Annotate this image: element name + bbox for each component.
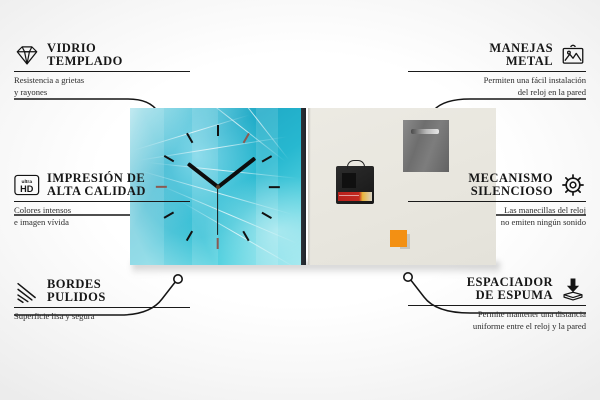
- polished-edges-icon: [14, 278, 40, 304]
- feature-espaciador-espuma: Espaciador de Espuma Permite mantener un…: [408, 276, 586, 332]
- foam-spacer-arrow-icon: [560, 276, 586, 302]
- feature-impresion-alta-calidad: ultra HD Impresión de Alta Calidad Color…: [14, 172, 190, 228]
- feature-rule: [14, 71, 190, 72]
- feature-title-line2: de Espuma: [467, 289, 553, 302]
- svg-text:HD: HD: [20, 184, 34, 194]
- mechanism-hanging-loop: [347, 160, 365, 169]
- feature-title-line2: Alta Calidad: [47, 185, 146, 198]
- mechanism-label: [338, 192, 372, 201]
- feature-bordes-pulidos: Bordes Pulidos Superficie lisa y segura: [14, 278, 190, 323]
- feature-description: Superficie lisa y segura: [14, 311, 190, 322]
- hanger-slot: [411, 129, 439, 134]
- clock-center-pin: [216, 185, 220, 189]
- feature-description: Resistencia a grietas y rayones: [14, 75, 190, 98]
- metal-hanger-plate: [403, 120, 449, 172]
- feature-rule: [408, 71, 586, 72]
- feature-rule: [14, 307, 190, 308]
- back-panel-edge: [308, 108, 311, 265]
- feature-rule: [14, 201, 190, 202]
- feature-rule: [408, 201, 586, 202]
- feature-manejas-metal: Manejas Metal Permiten una fácil instala…: [408, 42, 586, 98]
- infographic-canvas: Vidrio Templado Resistencia a grietas y …: [0, 0, 600, 400]
- feature-title-line2: Metal: [489, 55, 553, 68]
- foam-spacer: [390, 230, 407, 247]
- feature-vidrio-templado: Vidrio Templado Resistencia a grietas y …: [14, 42, 190, 98]
- gear-icon: [560, 172, 586, 198]
- feature-rule: [408, 305, 586, 306]
- feature-title-line2: Pulidos: [47, 291, 106, 304]
- feature-description: Permiten una fácil instalación del reloj…: [408, 75, 586, 98]
- feature-mecanismo-silencioso: Mecanismo Silencioso Las manecillas del …: [408, 172, 586, 228]
- ultra-hd-icon: ultra HD: [14, 172, 40, 198]
- feature-description: Colores intensos e imagen vívida: [14, 205, 190, 228]
- feature-title-line2: Templado: [47, 55, 123, 68]
- feature-title-line2: Silencioso: [468, 185, 553, 198]
- diamond-icon: [14, 42, 40, 68]
- feature-description: Las manecillas del reloj no emiten ningú…: [408, 205, 586, 228]
- feature-description: Permite mantener una distancia uniforme …: [408, 309, 586, 332]
- mechanism-battery-slot: [342, 173, 356, 188]
- glass-side-edge: [301, 108, 306, 265]
- clock-mechanism: [336, 166, 374, 204]
- picture-frame-hook-icon: [560, 42, 586, 68]
